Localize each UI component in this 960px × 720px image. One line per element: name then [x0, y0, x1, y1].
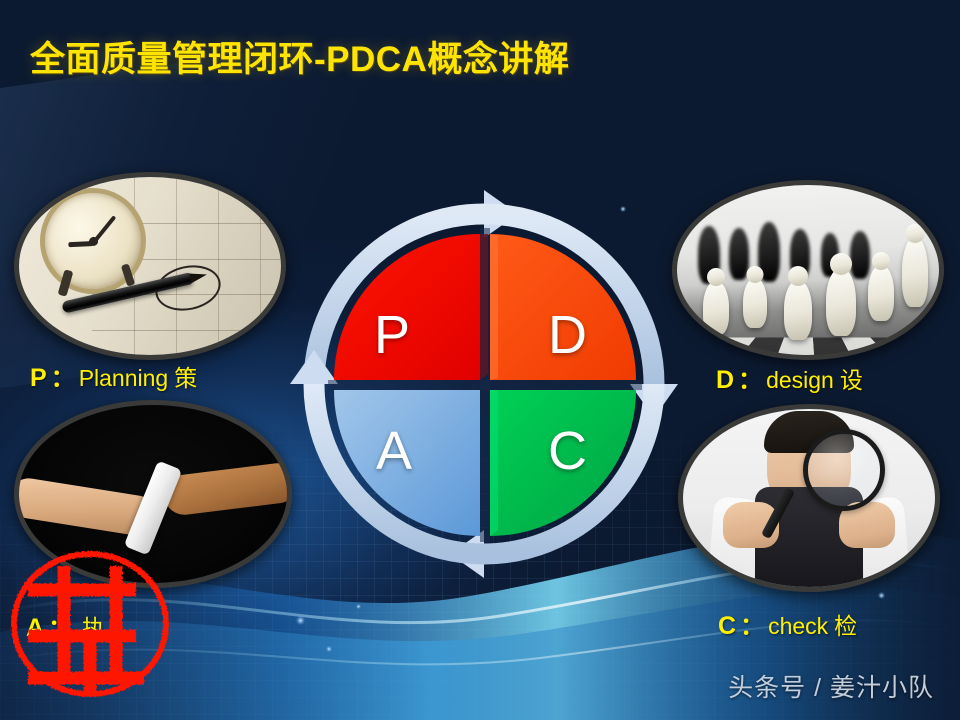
- caption-planning: P：Planning策: [30, 358, 197, 393]
- caption-cn-a: 执: [76, 615, 105, 641]
- act-photo: [14, 400, 292, 588]
- design-photo: [672, 180, 944, 360]
- caption-cn-p: 策: [168, 365, 197, 391]
- caption-design: D：design设: [716, 360, 863, 395]
- presentation-slide: 全面质量管理闭环-PDCA概念讲解: [0, 0, 960, 720]
- caption-check: C：check检: [718, 606, 857, 641]
- caption-value-d: design: [766, 367, 834, 393]
- planning-photo: [14, 172, 286, 360]
- caption-key-c: C: [718, 612, 736, 640]
- caption-colon-a: ：: [44, 615, 76, 642]
- caption-cn-c: 检: [828, 613, 857, 639]
- channel-watermark: 头条号 / 姜汁小队: [728, 668, 934, 704]
- quadrant-D: [490, 234, 636, 380]
- slide-title-text: 全面质量管理闭环-PDCA概念讲解: [30, 31, 569, 82]
- check-photo: [678, 404, 940, 592]
- caption-value-c: check: [768, 613, 828, 639]
- quadrant-C: [490, 390, 636, 536]
- caption-colon-p: ：: [47, 365, 79, 392]
- caption-key-p: P: [30, 364, 47, 392]
- caption-colon-d: ：: [734, 367, 766, 394]
- caption-cn-d: 设: [834, 367, 863, 393]
- caption-value-p: Planning: [79, 365, 169, 391]
- caption-colon-c: ：: [736, 613, 768, 640]
- sparkle-dot: [296, 616, 305, 625]
- sparkle-dot: [326, 646, 332, 652]
- slide-title: 全面质量管理闭环-PDCA概念讲解: [30, 28, 730, 84]
- magnifier-icon: [803, 429, 885, 511]
- clock-icon: [32, 180, 153, 301]
- sparkle-dot: [878, 592, 885, 599]
- caption-act: A：执: [26, 608, 105, 643]
- pdca-cycle-diagram: P D C A: [278, 178, 690, 590]
- sparkle-dot: [356, 604, 361, 609]
- caption-key-a: A: [26, 614, 44, 642]
- caption-key-d: D: [716, 366, 734, 394]
- quadrant-A: [334, 390, 480, 536]
